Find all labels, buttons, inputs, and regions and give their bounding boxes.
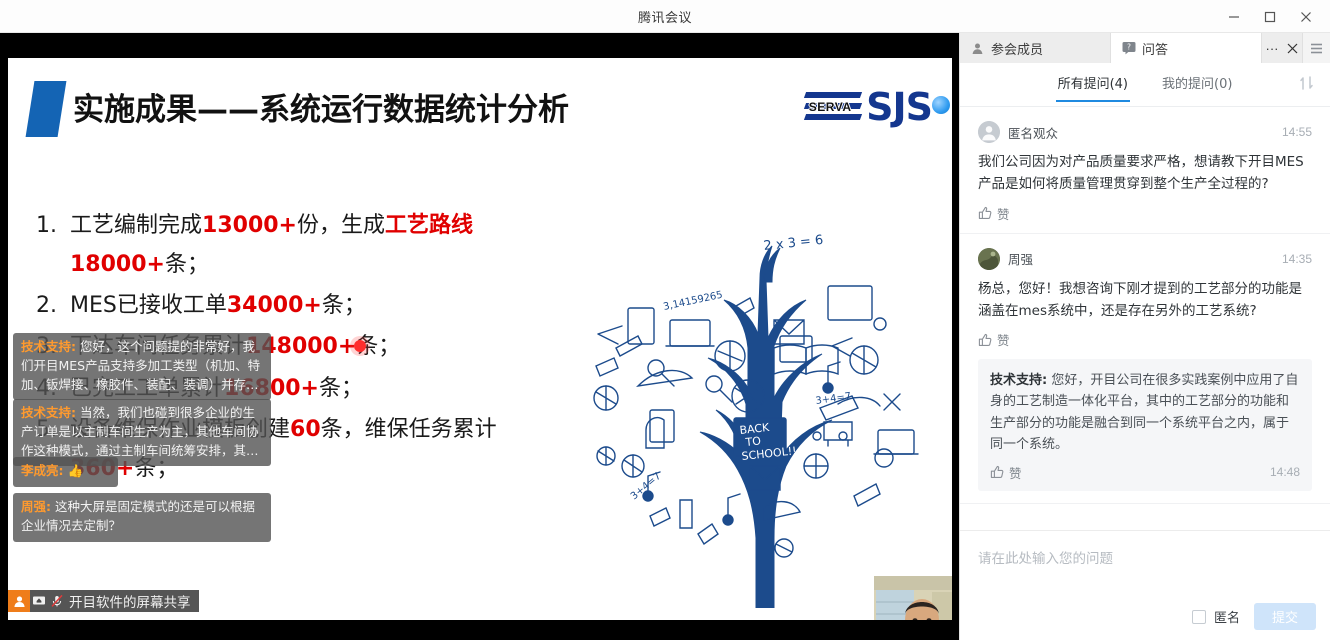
- svg-text:TO: TO: [744, 434, 762, 449]
- minimize-button[interactable]: [1216, 0, 1252, 33]
- title-bar: 腾讯会议: [0, 0, 1330, 33]
- slide-highlight-value: 60: [290, 417, 321, 442]
- company-logo: SERVA SJS: [800, 88, 932, 126]
- qa-reply-like-button[interactable]: 赞: [990, 463, 1270, 482]
- window-controls: [1216, 0, 1324, 33]
- edge-indicator-dot: [932, 96, 950, 114]
- sort-updown-icon[interactable]: [1299, 75, 1314, 95]
- anonymous-checkbox[interactable]: [1192, 610, 1206, 624]
- slide-accent-bar: [26, 81, 67, 137]
- overlay-message-3: 李成亮: 👍: [13, 457, 118, 487]
- slide-list-item-text: MES已接收工单34000+条；: [70, 286, 596, 325]
- slide-plain-text: 工艺编制完成: [70, 213, 202, 238]
- slide-plain-text: 条；: [319, 376, 363, 401]
- qa-item-time: 14:55: [1282, 125, 1312, 139]
- qa-reply-time: 14:48: [1270, 465, 1300, 479]
- anonymous-label: 匿名: [1214, 607, 1240, 626]
- slide-list-item-number: 2.: [36, 286, 70, 325]
- qa-reply-footer: 赞 14:48: [990, 463, 1300, 482]
- qa-panel: 参会成员 ? 问答 ··· 所有提问(4) 我的提问(0): [959, 33, 1330, 640]
- panel-close-button[interactable]: [1282, 33, 1302, 63]
- subtab-all-questions[interactable]: 所有提问(4): [1056, 67, 1130, 102]
- serva-logo-mark: SERVA: [800, 91, 860, 123]
- svg-text:?: ?: [1127, 43, 1131, 52]
- maximize-button[interactable]: [1252, 0, 1288, 33]
- serva-logo-text: SERVA: [802, 100, 858, 114]
- qa-question-list[interactable]: 匿名观众 14:55 我们公司因为对产品质量要求严格，想请教下开目MES产品是如…: [960, 107, 1330, 530]
- overlay-message-1-author: 技术支持:: [21, 339, 76, 354]
- qa-item: 匿名观众 14:55 我们公司因为对产品质量要求严格，想请教下开目MES产品是如…: [960, 107, 1330, 234]
- slide-highlight-value: 34000+: [227, 293, 322, 318]
- slide-highlight-value: 13000+: [202, 213, 297, 238]
- slide-list-item-text: 工艺编制完成13000+份，生成工艺路线18000+条；: [70, 206, 596, 284]
- participants-icon: [970, 41, 985, 56]
- photo-avatar: [978, 248, 1000, 270]
- overlay-message-2-author: 技术支持:: [21, 405, 76, 420]
- qa-like-label: 赞: [997, 204, 1010, 223]
- svg-text:3,14159265: 3,14159265: [662, 290, 723, 313]
- qa-item-text: 我们公司因为对产品质量要求严格，想请教下开目MES产品是如何将质量管理贯穿到整个…: [978, 152, 1312, 196]
- slide-list-item: 2.MES已接收工单34000+条；: [36, 286, 596, 325]
- sjs-logo-text: SJS: [866, 85, 932, 129]
- tab-qa-label: 问答: [1142, 39, 1168, 58]
- slide-list-item: 1.工艺编制完成13000+份，生成工艺路线18000+条；: [36, 206, 596, 284]
- panel-more-button[interactable]: ···: [1262, 33, 1282, 63]
- overlay-message-4-text: 这种大屏是固定模式的还是可以根据企业情况去定制？: [21, 499, 255, 533]
- tab-qa[interactable]: ? 问答: [1111, 33, 1262, 63]
- tab-participants-label: 参会成员: [991, 39, 1043, 58]
- close-button[interactable]: [1288, 0, 1324, 33]
- overlay-message-3-author: 李成亮:: [21, 463, 64, 478]
- laser-pointer-dot: [354, 340, 366, 352]
- app-title: 腾讯会议: [638, 7, 692, 26]
- screen-share-stage[interactable]: 实施成果——系统运行数据统计分析 SERVA SJS: [0, 33, 959, 640]
- screen-share-label-bar: 开目软件的屏幕共享: [8, 590, 199, 612]
- qa-item: 周强 14:35 杨总，您好！我想咨询下刚才提到的工艺部分的功能是涵盖在mes系…: [960, 234, 1330, 504]
- share-presenter-label: 开目软件的屏幕共享: [66, 591, 199, 611]
- presenter-video-thumbnail[interactable]: Wor: [874, 576, 952, 620]
- back-to-school-tree-illustration: 2 x 3 = 6 3,14159265 3+4=7 3+4=7 BACK TO…: [588, 208, 948, 608]
- qa-reply: 技术支持: 您好，开目公司在很多实践案例中应用了自身的工艺制造一体化平台，其中的…: [978, 359, 1312, 490]
- qa-reply-author: 技术支持:: [990, 373, 1047, 388]
- panel-menu-button[interactable]: [1302, 33, 1330, 63]
- overlay-message-3-text: 👍: [67, 463, 83, 478]
- qa-icon: ?: [1121, 41, 1136, 56]
- screen-share-icon: [30, 590, 48, 612]
- svg-text:3+4=7: 3+4=7: [815, 391, 852, 407]
- qa-item-time: 14:35: [1282, 252, 1312, 266]
- qa-item-author: 匿名观众: [1008, 123, 1274, 142]
- submit-button[interactable]: 提交: [1254, 603, 1316, 630]
- qa-like-button[interactable]: 赞: [978, 330, 1312, 349]
- qa-item-header: 匿名观众 14:55: [978, 121, 1312, 143]
- slide-list-item-number: 1.: [36, 206, 70, 284]
- question-input[interactable]: 请在此处输入您的问题: [960, 531, 1330, 567]
- panel-tools: ···: [1262, 33, 1330, 63]
- slide-plain-text: 条，维保任务累计: [321, 417, 497, 442]
- anonymous-toggle[interactable]: 匿名: [1192, 607, 1240, 626]
- qa-item-author: 周强: [1008, 249, 1274, 268]
- tencent-meeting-window: 腾讯会议 实施成果——系统运行数据统计分析 SERVA: [0, 0, 1330, 640]
- svg-text:2 x 3 = 6: 2 x 3 = 6: [763, 233, 824, 254]
- panel-tab-bar: 参会成员 ? 问答 ···: [960, 33, 1330, 63]
- qa-subtab-bar: 所有提问(4) 我的提问(0): [960, 63, 1330, 107]
- composer-actions: 匿名 提交: [1192, 603, 1316, 630]
- qa-reply-body: 技术支持: 您好，开目公司在很多实践案例中应用了自身的工艺制造一体化平台，其中的…: [990, 370, 1300, 454]
- default-avatar: [978, 121, 1000, 143]
- qa-reply-like-label: 赞: [1009, 463, 1022, 482]
- person-icon: [8, 590, 30, 612]
- qa-like-label: 赞: [997, 330, 1010, 349]
- qa-composer: 请在此处输入您的问题 匿名 提交: [960, 530, 1330, 640]
- slide-plain-text: 条；: [322, 293, 366, 318]
- tab-participants[interactable]: 参会成员: [960, 33, 1111, 63]
- slide-plain-text: 份，生成: [297, 213, 385, 238]
- shared-slide: 实施成果——系统运行数据统计分析 SERVA SJS: [8, 58, 952, 620]
- slide-title: 实施成果——系统运行数据统计分析: [73, 84, 569, 129]
- slide-plain-text: 条；: [165, 252, 209, 277]
- subtab-my-questions[interactable]: 我的提问(0): [1160, 67, 1234, 102]
- slide-plain-text: MES已接收工单: [70, 293, 227, 318]
- overlay-message-4-author: 周强:: [21, 499, 51, 514]
- mic-muted-icon: [48, 590, 66, 612]
- qa-like-button[interactable]: 赞: [978, 204, 1312, 223]
- qa-item-header: 周强 14:35: [978, 248, 1312, 270]
- overlay-message-4: 周强: 这种大屏是固定模式的还是可以根据企业情况去定制？: [13, 493, 271, 542]
- qa-item-text: 杨总，您好！我想咨询下刚才提到的工艺部分的功能是涵盖在mes系统中，还是存在另外…: [978, 279, 1312, 323]
- overlay-message-1: 技术支持: 您好，这个问题提的非常好，我们开目MES产品支持多加工类型（机加、特…: [13, 333, 271, 400]
